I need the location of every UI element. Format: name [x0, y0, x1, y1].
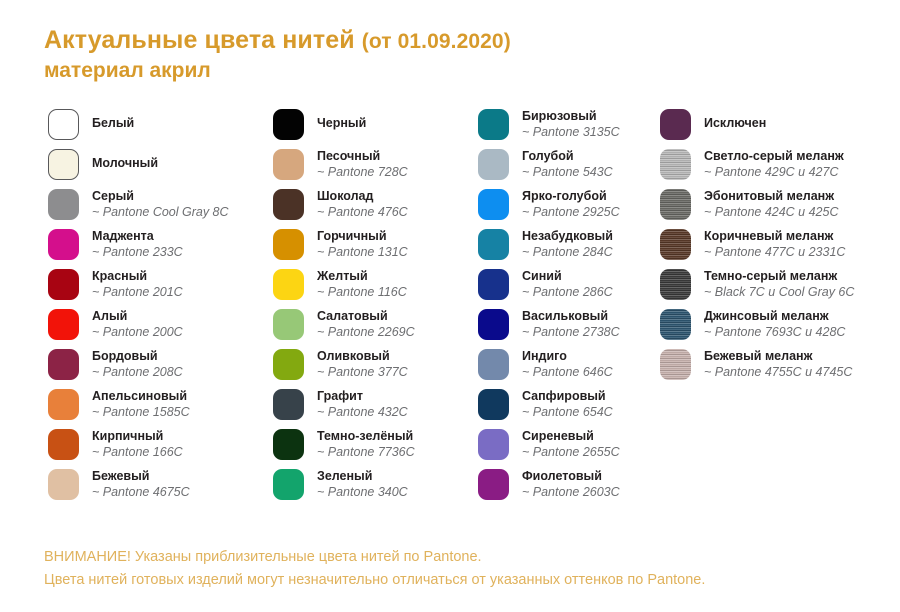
color-label-group: Синий~ Pantone 286C: [522, 268, 613, 300]
color-swatch: [48, 389, 79, 420]
color-name: Белый: [92, 116, 134, 130]
color-name: Ярко-голубой: [522, 189, 620, 203]
color-label-group: Алый~ Pantone 200C: [92, 308, 183, 340]
color-swatch: [273, 269, 304, 300]
color-pantone-code: ~ Pantone 166C: [92, 445, 183, 460]
color-entry[interactable]: Сапфировый~ Pantone 654C: [478, 388, 658, 428]
color-entry[interactable]: Шоколад~ Pantone 476C: [273, 188, 473, 228]
color-swatch: [48, 229, 79, 260]
color-swatch: [273, 189, 304, 220]
color-label-group: Салатовый~ Pantone 2269C: [317, 308, 415, 340]
color-entry[interactable]: Горчичный~ Pantone 131C: [273, 228, 473, 268]
color-name: Сапфировый: [522, 389, 613, 403]
color-pantone-code: ~ Pantone 2655C: [522, 445, 620, 460]
color-swatch: [273, 469, 304, 500]
color-entry[interactable]: Апельсиновый~ Pantone 1585C: [48, 388, 263, 428]
color-label-group: Ярко-голубой~ Pantone 2925C: [522, 188, 620, 220]
color-swatch: [478, 269, 509, 300]
color-swatch: [48, 349, 79, 380]
color-label-group: Красный~ Pantone 201C: [92, 268, 183, 300]
color-label-group: Джинсовый меланж~ Pantone 7693С и 428С: [704, 308, 845, 340]
color-name: Зеленый: [317, 469, 408, 483]
color-label-group: Желтый~ Pantone 116C: [317, 268, 407, 300]
color-swatch: [48, 469, 79, 500]
color-pantone-code: ~ Pantone 2603C: [522, 485, 620, 500]
color-swatch: [48, 429, 79, 460]
color-pantone-code: ~ Pantone 1585C: [92, 405, 190, 420]
color-swatch: [273, 149, 304, 180]
color-swatch: [660, 149, 691, 180]
color-label-group: Апельсиновый~ Pantone 1585C: [92, 388, 190, 420]
color-pantone-code: ~ Pantone 477С и 2331С: [704, 245, 845, 260]
color-swatch: [478, 349, 509, 380]
color-pantone-code: ~ Pantone 284C: [522, 245, 613, 260]
color-label-group: Песочный~ Pantone 728C: [317, 148, 408, 180]
column-3: Бирюзовый~ Pantone 3135CГолубой~ Pantone…: [478, 108, 658, 508]
color-label-group: Незабудковый~ Pantone 284C: [522, 228, 613, 260]
color-pantone-code: ~ Pantone 208C: [92, 365, 183, 380]
color-pantone-code: ~ Pantone 131C: [317, 245, 408, 260]
page-title: Актуальные цвета нитей (от 01.09.2020): [44, 26, 864, 56]
color-name: Графит: [317, 389, 408, 403]
color-name: Бордовый: [92, 349, 183, 363]
color-name: Темно-зелёный: [317, 429, 415, 443]
color-label-group: Исключен: [704, 108, 766, 130]
color-name: Бежевый: [92, 469, 190, 483]
color-pantone-code: ~ Pantone 476C: [317, 205, 408, 220]
color-swatch: [660, 309, 691, 340]
color-label-group: Бежевый~ Pantone 4675C: [92, 468, 190, 500]
color-pantone-code: ~ Pantone 424С и 425С: [704, 205, 838, 220]
color-name: Исключен: [704, 116, 766, 130]
color-swatch: [48, 189, 79, 220]
color-entry[interactable]: Черный: [273, 108, 473, 148]
color-swatch: [660, 229, 691, 260]
color-swatch: [273, 349, 304, 380]
color-entry[interactable]: Джинсовый меланж~ Pantone 7693С и 428С: [660, 308, 895, 348]
color-pantone-code: ~ Pantone 2738C: [522, 325, 620, 340]
color-swatch: [478, 429, 509, 460]
color-entry[interactable]: Эбонитовый меланж~ Pantone 424С и 425С: [660, 188, 895, 228]
color-label-group: Маджента~ Pantone 233C: [92, 228, 183, 260]
color-entry[interactable]: Фиолетовый~ Pantone 2603C: [478, 468, 658, 508]
color-pantone-code: ~ Pantone 2925C: [522, 205, 620, 220]
color-pantone-code: ~ Pantone 201C: [92, 285, 183, 300]
color-swatch: [48, 309, 79, 340]
color-name: Синий: [522, 269, 613, 283]
color-pantone-code: ~ Pantone 429С и 427С: [704, 165, 844, 180]
column-1: БелыйМолочныйСерый~ Pantone Cool Gray 8C…: [48, 108, 263, 508]
color-entry[interactable]: Исключен: [660, 108, 895, 148]
color-pantone-code: ~ Pantone 2269C: [317, 325, 415, 340]
color-name: Сиреневый: [522, 429, 620, 443]
color-name: Джинсовый меланж: [704, 309, 845, 323]
color-label-group: Зеленый~ Pantone 340C: [317, 468, 408, 500]
color-entry[interactable]: Графит~ Pantone 432C: [273, 388, 473, 428]
color-label-group: Горчичный~ Pantone 131C: [317, 228, 408, 260]
color-name: Васильковый: [522, 309, 620, 323]
color-entry[interactable]: Темно-серый меланж~ Black 7С и Cool Gray…: [660, 268, 895, 308]
color-entry[interactable]: Молочный: [48, 148, 263, 188]
color-label-group: Бирюзовый~ Pantone 3135C: [522, 108, 620, 140]
page-title-date: (от 01.09.2020): [362, 30, 511, 53]
color-entry[interactable]: Индиго~ Pantone 646C: [478, 348, 658, 388]
color-name: Апельсиновый: [92, 389, 190, 403]
color-label-group: Сиреневый~ Pantone 2655C: [522, 428, 620, 460]
color-label-group: Оливковый~ Pantone 377C: [317, 348, 408, 380]
color-name: Оливковый: [317, 349, 408, 363]
color-pantone-code: ~ Pantone Cool Gray 8C: [92, 205, 229, 220]
color-label-group: Темно-зелёный~ Pantone 7736C: [317, 428, 415, 460]
column-2: ЧерныйПесочный~ Pantone 728CШоколад~ Pan…: [273, 108, 473, 508]
color-entry[interactable]: Бирюзовый~ Pantone 3135C: [478, 108, 658, 148]
color-swatch: [660, 269, 691, 300]
color-swatch: [48, 269, 79, 300]
color-swatch: [273, 309, 304, 340]
footer-notice: ВНИМАНИЕ! Указаны приблизительные цвета …: [44, 546, 874, 592]
color-swatch: [273, 229, 304, 260]
color-name: Серый: [92, 189, 229, 203]
color-swatch: [478, 149, 509, 180]
color-name: Маджента: [92, 229, 183, 243]
color-pantone-code: ~ Pantone 432C: [317, 405, 408, 420]
color-entry[interactable]: Бежевый~ Pantone 4675C: [48, 468, 263, 508]
color-entry[interactable]: Незабудковый~ Pantone 284C: [478, 228, 658, 268]
color-name: Красный: [92, 269, 183, 283]
color-name: Бирюзовый: [522, 109, 620, 123]
color-entry[interactable]: Коричневый меланж~ Pantone 477С и 2331С: [660, 228, 895, 268]
color-swatch: [478, 309, 509, 340]
color-label-group: Фиолетовый~ Pantone 2603C: [522, 468, 620, 500]
color-name: Молочный: [92, 156, 158, 170]
color-entry[interactable]: Красный~ Pantone 201C: [48, 268, 263, 308]
color-label-group: Коричневый меланж~ Pantone 477С и 2331С: [704, 228, 845, 260]
color-pantone-code: ~ Pantone 3135C: [522, 125, 620, 140]
color-name: Алый: [92, 309, 183, 323]
color-swatch: [478, 229, 509, 260]
color-name: Темно-серый меланж: [704, 269, 854, 283]
page-subtitle: материал акрил: [44, 58, 864, 84]
page-title-main: Актуальные цвета нитей: [44, 26, 355, 54]
color-name: Бежевый меланж: [704, 349, 852, 363]
color-entry[interactable]: Оливковый~ Pantone 377C: [273, 348, 473, 388]
color-swatch: [273, 109, 304, 140]
color-pantone-code: ~ Pantone 116C: [317, 285, 407, 300]
color-entry[interactable]: Синий~ Pantone 286C: [478, 268, 658, 308]
color-name: Коричневый меланж: [704, 229, 845, 243]
color-entry[interactable]: Светло-серый меланж~ Pantone 429С и 427С: [660, 148, 895, 188]
color-name: Черный: [317, 116, 366, 130]
color-label-group: Графит~ Pantone 432C: [317, 388, 408, 420]
color-name: Горчичный: [317, 229, 408, 243]
color-entry[interactable]: Желтый~ Pantone 116C: [273, 268, 473, 308]
color-swatch: [273, 429, 304, 460]
color-name: Салатовый: [317, 309, 415, 323]
color-swatch: [48, 109, 79, 140]
color-pantone-code: ~ Pantone 233C: [92, 245, 183, 260]
color-pantone-code: ~ Pantone 7736C: [317, 445, 415, 460]
color-name: Голубой: [522, 149, 613, 163]
color-swatch: [273, 389, 304, 420]
footer-line-1: ВНИМАНИЕ! Указаны приблизительные цвета …: [44, 546, 874, 569]
color-label-group: Эбонитовый меланж~ Pantone 424С и 425С: [704, 188, 838, 220]
color-entry[interactable]: Кирпичный~ Pantone 166C: [48, 428, 263, 468]
color-entry[interactable]: Бежевый меланж~ Pantone 4755С и 4745С: [660, 348, 895, 388]
color-label-group: Бордовый~ Pantone 208C: [92, 348, 183, 380]
color-entry[interactable]: Белый: [48, 108, 263, 148]
color-label-group: Светло-серый меланж~ Pantone 429С и 427С: [704, 148, 844, 180]
color-pantone-code: ~ Pantone 646C: [522, 365, 613, 380]
color-label-group: Васильковый~ Pantone 2738C: [522, 308, 620, 340]
color-entry[interactable]: Ярко-голубой~ Pantone 2925C: [478, 188, 658, 228]
color-pantone-code: ~ Pantone 4755С и 4745С: [704, 365, 852, 380]
color-entry[interactable]: Зеленый~ Pantone 340C: [273, 468, 473, 508]
color-name: Индиго: [522, 349, 613, 363]
color-name: Незабудковый: [522, 229, 613, 243]
color-entry[interactable]: Маджента~ Pantone 233C: [48, 228, 263, 268]
color-pantone-code: ~ Pantone 340C: [317, 485, 408, 500]
color-pantone-code: ~ Black 7С и Cool Gray 6С: [704, 285, 854, 300]
color-entry[interactable]: Салатовый~ Pantone 2269C: [273, 308, 473, 348]
page-header: Актуальные цвета нитей (от 01.09.2020) м…: [44, 26, 864, 84]
color-entry[interactable]: Темно-зелёный~ Pantone 7736C: [273, 428, 473, 468]
color-name: Шоколад: [317, 189, 408, 203]
color-label-group: Черный: [317, 108, 366, 130]
color-entry[interactable]: Серый~ Pantone Cool Gray 8C: [48, 188, 263, 228]
color-pantone-code: ~ Pantone 7693С и 428С: [704, 325, 845, 340]
color-label-group: Сапфировый~ Pantone 654C: [522, 388, 613, 420]
color-pantone-code: ~ Pantone 4675C: [92, 485, 190, 500]
color-entry[interactable]: Песочный~ Pantone 728C: [273, 148, 473, 188]
color-entry[interactable]: Сиреневый~ Pantone 2655C: [478, 428, 658, 468]
color-swatch: [660, 189, 691, 220]
color-label-group: Белый: [92, 108, 134, 130]
color-entry[interactable]: Бордовый~ Pantone 208C: [48, 348, 263, 388]
color-name: Песочный: [317, 149, 408, 163]
color-swatch: [660, 109, 691, 140]
column-4: ИсключенСветло-серый меланж~ Pantone 429…: [660, 108, 895, 388]
color-label-group: Кирпичный~ Pantone 166C: [92, 428, 183, 460]
footer-line-2: Цвета нитей готовых изделий могут незнач…: [44, 569, 874, 592]
color-pantone-code: ~ Pantone 654C: [522, 405, 613, 420]
color-name: Светло-серый меланж: [704, 149, 844, 163]
color-palette-grid: БелыйМолочныйСерый~ Pantone Cool Gray 8C…: [0, 108, 900, 528]
color-pantone-code: ~ Pantone 377C: [317, 365, 408, 380]
color-name: Кирпичный: [92, 429, 183, 443]
color-name: Желтый: [317, 269, 407, 283]
color-label-group: Темно-серый меланж~ Black 7С и Cool Gray…: [704, 268, 854, 300]
color-swatch: [478, 189, 509, 220]
color-entry[interactable]: Алый~ Pantone 200C: [48, 308, 263, 348]
color-label-group: Шоколад~ Pantone 476C: [317, 188, 408, 220]
color-entry[interactable]: Васильковый~ Pantone 2738C: [478, 308, 658, 348]
color-pantone-code: ~ Pantone 543C: [522, 165, 613, 180]
color-pantone-code: ~ Pantone 286C: [522, 285, 613, 300]
color-label-group: Индиго~ Pantone 646C: [522, 348, 613, 380]
color-label-group: Голубой~ Pantone 543C: [522, 148, 613, 180]
color-name: Фиолетовый: [522, 469, 620, 483]
color-swatch: [660, 349, 691, 380]
color-pantone-code: ~ Pantone 200C: [92, 325, 183, 340]
color-label-group: Бежевый меланж~ Pantone 4755С и 4745С: [704, 348, 852, 380]
color-entry[interactable]: Голубой~ Pantone 543C: [478, 148, 658, 188]
color-swatch: [478, 389, 509, 420]
color-swatch: [478, 469, 509, 500]
color-pantone-code: ~ Pantone 728C: [317, 165, 408, 180]
color-label-group: Молочный: [92, 148, 158, 170]
color-swatch: [478, 109, 509, 140]
color-name: Эбонитовый меланж: [704, 189, 838, 203]
color-label-group: Серый~ Pantone Cool Gray 8C: [92, 188, 229, 220]
color-swatch: [48, 149, 79, 180]
